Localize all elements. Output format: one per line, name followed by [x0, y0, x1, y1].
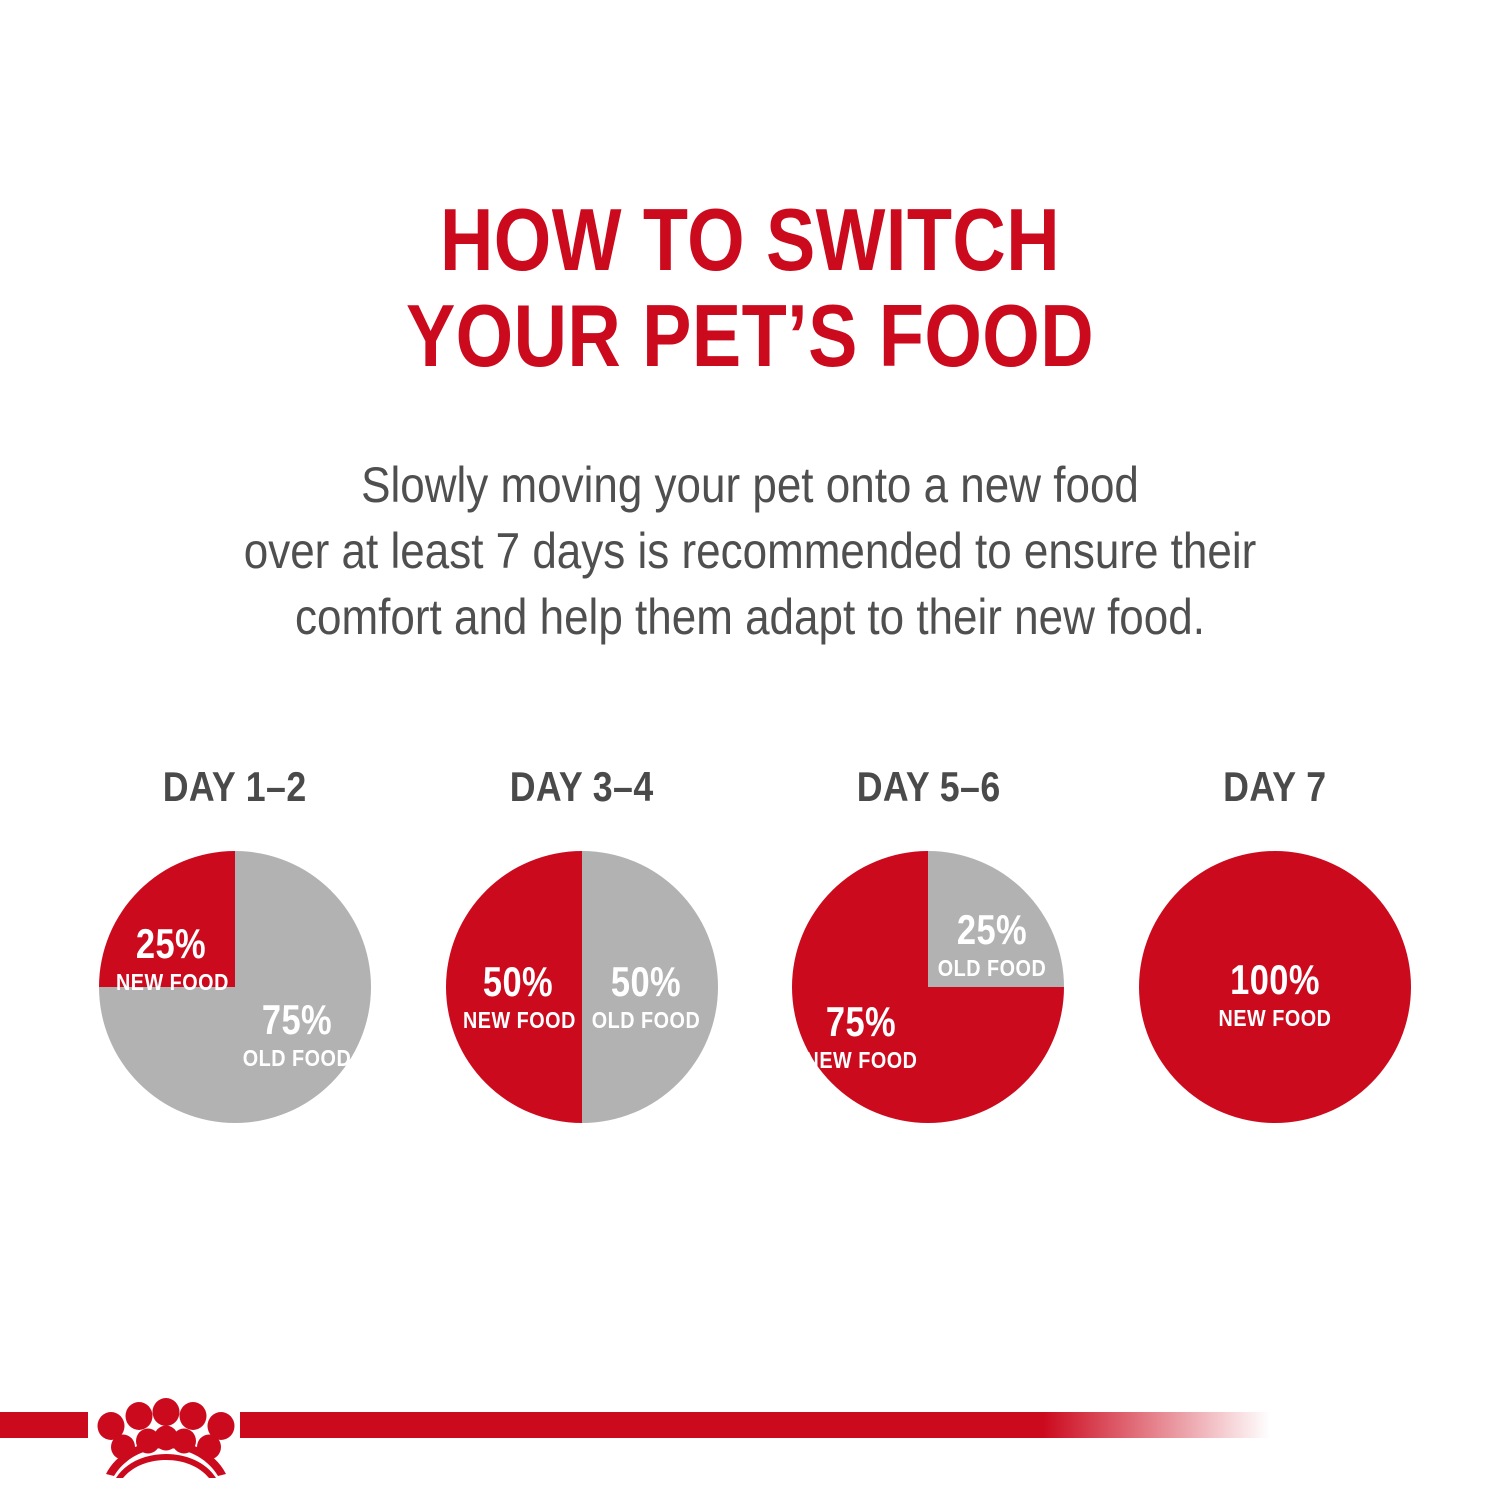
- pie-svg-day-1-2: [99, 851, 371, 1123]
- royal-canin-crown-icon: [92, 1386, 240, 1478]
- intro-paragraph: Slowly moving your pet onto a new food o…: [90, 452, 1410, 650]
- pie-block-day-5-6: DAY 5–6 25% OLD FOOD 75% NEW FOOD: [763, 765, 1093, 1123]
- page-title-line-1: HOW TO SWITCH: [120, 192, 1380, 288]
- pie-block-day-7: DAY 7 100% NEW FOOD: [1110, 765, 1440, 1123]
- footer-brand-bar: [0, 1412, 1500, 1500]
- pie-chart-row: DAY 1–2 25% NEW FOOD 75% OLD FOOD: [70, 765, 1440, 1145]
- pie-chart-day-5-6: 25% OLD FOOD 75% NEW FOOD: [792, 851, 1064, 1123]
- day-label-2: DAY 3–4: [510, 765, 654, 809]
- pie-svg-day-5-6: [792, 851, 1064, 1123]
- footer-bar-right-segment: [240, 1412, 1270, 1438]
- crown-icon-svg: [92, 1386, 240, 1478]
- day-label-4: DAY 7: [1223, 765, 1326, 809]
- day-label-3: DAY 5–6: [856, 765, 1000, 809]
- intro-line-2: over at least 7 days is recommended to e…: [90, 518, 1410, 584]
- page-title: HOW TO SWITCH YOUR PET’S FOOD: [120, 192, 1380, 384]
- pie-block-day-1-2: DAY 1–2 25% NEW FOOD 75% OLD FOOD: [70, 765, 400, 1123]
- page-title-line-2: YOUR PET’S FOOD: [120, 288, 1380, 384]
- intro-line-1: Slowly moving your pet onto a new food: [90, 452, 1410, 518]
- pie-chart-day-1-2: 25% NEW FOOD 75% OLD FOOD: [99, 851, 371, 1123]
- pie-chart-day-3-4: 50% NEW FOOD 50% OLD FOOD: [446, 851, 718, 1123]
- pie-svg-day-3-4: [446, 851, 718, 1123]
- pie-chart-day-7: 100% NEW FOOD: [1139, 851, 1411, 1123]
- infographic-page: HOW TO SWITCH YOUR PET’S FOOD Slowly mov…: [0, 0, 1500, 1500]
- intro-line-3: comfort and help them adapt to their new…: [90, 584, 1410, 650]
- day-label-1: DAY 1–2: [163, 765, 307, 809]
- pie-svg-day-7: [1139, 851, 1411, 1123]
- pie-block-day-3-4: DAY 3–4 50% NEW FOOD 50% OLD FOOD: [417, 765, 747, 1123]
- footer-bar-left-segment: [0, 1412, 88, 1438]
